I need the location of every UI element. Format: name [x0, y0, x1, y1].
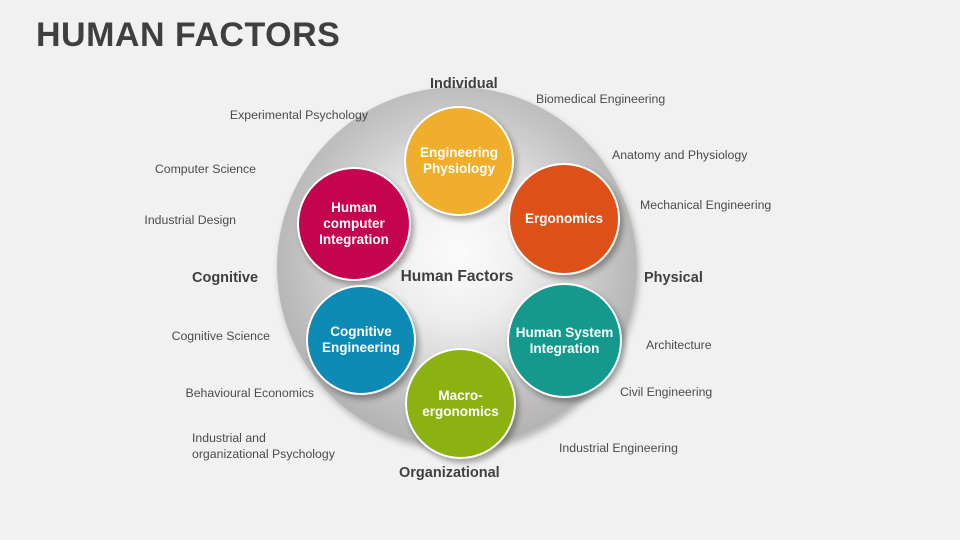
bubble-ergonomics[interactable]: Ergonomics [508, 163, 620, 275]
discipline-label-biomedical-engineering: Biomedical Engineering [536, 92, 665, 108]
discipline-label-mechanical-engineering: Mechanical Engineering [640, 198, 771, 214]
bubble-line: Engineering [310, 340, 412, 356]
quadrant-label-physical: Physical [644, 270, 703, 286]
discipline-label-industrial-engineering: Industrial Engineering [559, 441, 678, 457]
discipline-label-behavioural-economics: Behavioural Economics [186, 386, 315, 402]
bubble-line: Integration [511, 341, 618, 357]
quadrant-label-individual: Individual [430, 76, 498, 92]
bubble-line: Cognitive [310, 324, 412, 340]
bubble-line: Macro- [409, 388, 512, 404]
bubble-line: ergonomics [409, 404, 512, 420]
discipline-label-industrial-design: Industrial Design [144, 213, 236, 229]
discipline-label-industrial-organizational-psychology: Industrial and organizational Psychology [192, 431, 392, 463]
bubble-line: Human System [511, 325, 618, 341]
bubble-cognitive-engineering[interactable]: Cognitive Engineering [306, 285, 416, 395]
discipline-label-line: organizational Psychology [192, 447, 392, 463]
quadrant-label-cognitive: Cognitive [192, 270, 258, 286]
bubble-line: Human [301, 200, 407, 216]
bubble-engineering-physiology[interactable]: Engineering Physiology [404, 106, 514, 216]
bubble-line: Engineering [408, 145, 510, 161]
human-factors-diagram: Human Factors Individual Physical Organi… [0, 0, 960, 540]
discipline-label-line: Industrial and [192, 431, 392, 447]
discipline-label-experimental-psychology: Experimental Psychology [230, 108, 368, 124]
discipline-label-cognitive-science: Cognitive Science [172, 329, 270, 345]
bubble-human-computer-integration[interactable]: Human computer Integration [297, 167, 411, 281]
discipline-label-anatomy-and-physiology: Anatomy and Physiology [612, 148, 747, 164]
quadrant-label-organizational: Organizational [399, 465, 500, 481]
bubble-line: Ergonomics [512, 211, 616, 227]
discipline-label-computer-science: Computer Science [155, 162, 256, 178]
bubble-macro-ergonomics[interactable]: Macro- ergonomics [405, 348, 516, 459]
bubble-line: Integration [301, 232, 407, 248]
bubble-line: computer [301, 216, 407, 232]
bubble-line: Physiology [408, 161, 510, 177]
discipline-label-civil-engineering: Civil Engineering [620, 385, 712, 401]
slide-canvas: HUMAN FACTORS Human Factors Individual P… [0, 0, 960, 540]
discipline-label-architecture: Architecture [646, 338, 712, 354]
bubble-human-system-integration[interactable]: Human System Integration [507, 283, 622, 398]
